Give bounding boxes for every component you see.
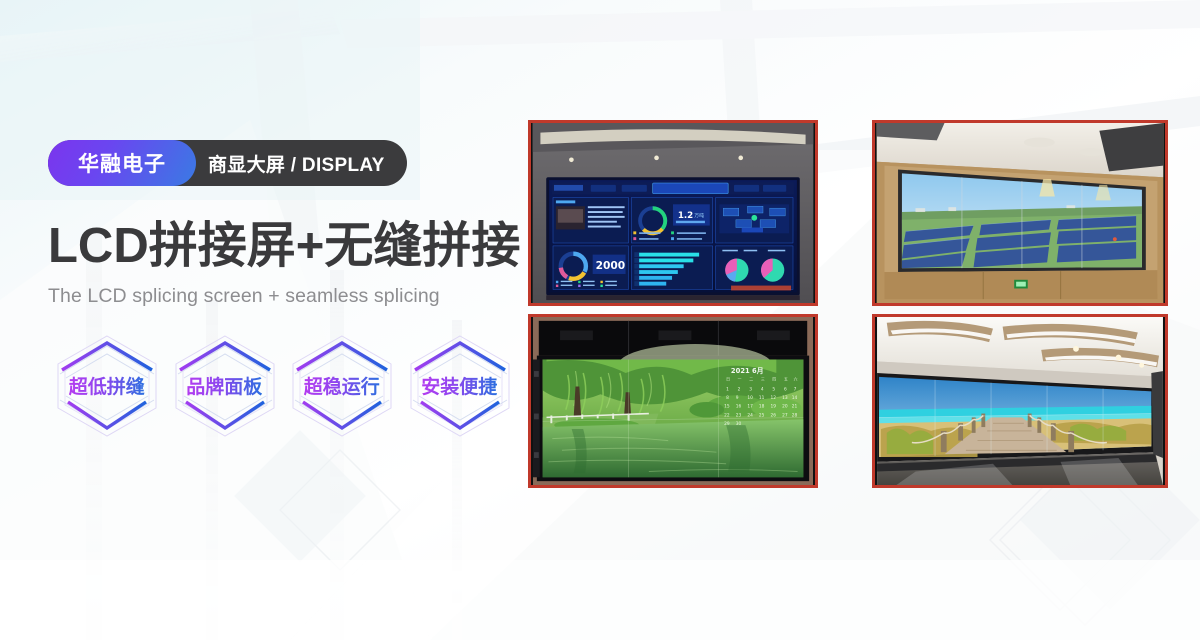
svg-text:17: 17 bbox=[747, 404, 753, 410]
svg-text:21: 21 bbox=[792, 404, 798, 410]
svg-text:3: 3 bbox=[749, 386, 752, 392]
feature-badge-2: 品牌面板 bbox=[166, 330, 284, 442]
svg-text:15: 15 bbox=[724, 404, 730, 410]
feature-badge-4: 安装便捷 bbox=[401, 330, 519, 442]
svg-text:1.2: 1.2 bbox=[678, 211, 693, 221]
feature-badge-1: 超低拼缝 bbox=[48, 330, 166, 442]
page-title: LCD拼接屏+无缝拼接 bbox=[48, 222, 518, 272]
svg-text:20: 20 bbox=[782, 404, 788, 410]
chevron-up-icon bbox=[180, 343, 270, 370]
svg-text:2021 6月: 2021 6月 bbox=[731, 367, 764, 375]
svg-text:7: 7 bbox=[794, 386, 797, 392]
brand-badge-label: 华融电子 bbox=[78, 148, 166, 178]
svg-text:五: 五 bbox=[784, 377, 788, 382]
svg-text:二: 二 bbox=[749, 377, 753, 382]
svg-text:四: 四 bbox=[772, 377, 776, 382]
svg-text:2: 2 bbox=[738, 386, 741, 392]
svg-text:10: 10 bbox=[747, 395, 753, 401]
svg-text:16: 16 bbox=[736, 404, 742, 410]
svg-text:12: 12 bbox=[771, 395, 777, 401]
svg-text:19: 19 bbox=[771, 404, 777, 410]
svg-text:9: 9 bbox=[736, 395, 739, 401]
svg-text:6: 6 bbox=[784, 386, 787, 392]
svg-text:23: 23 bbox=[736, 412, 742, 418]
promo-banner: 商显大屏 / DISPLAY 华融电子 LCD拼接屏+无缝拼接 The LCD … bbox=[0, 0, 1200, 640]
svg-text:一: 一 bbox=[738, 377, 742, 382]
svg-text:30: 30 bbox=[736, 421, 742, 427]
svg-text:24: 24 bbox=[747, 412, 753, 418]
svg-text:29: 29 bbox=[724, 421, 730, 427]
chevron-up-icon bbox=[62, 343, 152, 370]
badge-row: 商显大屏 / DISPLAY 华融电子 bbox=[48, 140, 518, 186]
svg-text:13: 13 bbox=[782, 395, 788, 401]
svg-text:2000: 2000 bbox=[596, 259, 626, 272]
svg-text:4: 4 bbox=[761, 386, 764, 392]
category-badge-label: 商显大屏 / DISPLAY bbox=[208, 150, 385, 177]
svg-text:14: 14 bbox=[792, 395, 798, 401]
feature-badge-label: 超低拼缝 bbox=[69, 372, 145, 399]
svg-text:25: 25 bbox=[759, 412, 765, 418]
page-subtitle: The LCD splicing screen + seamless splic… bbox=[48, 285, 518, 308]
feature-badge-row: 超低拼缝 bbox=[48, 330, 518, 442]
svg-text:11: 11 bbox=[759, 395, 765, 401]
photo-willow-lake-video-wall: 2021 6月 日一二 三四五六 123 4567 8910 11121314 … bbox=[528, 314, 818, 488]
svg-text:22: 22 bbox=[724, 412, 730, 418]
chevron-up-icon bbox=[415, 343, 505, 370]
copy-column: 商显大屏 / DISPLAY 华融电子 LCD拼接屏+无缝拼接 The LCD … bbox=[48, 140, 518, 442]
svg-text:日: 日 bbox=[726, 377, 730, 382]
photo-solar-farm-video-wall bbox=[872, 120, 1168, 306]
chevron-down-icon bbox=[303, 402, 381, 428]
feature-badge-3: 超稳运行 bbox=[283, 330, 401, 442]
photo-control-room-dashboard: 1.2 万吨 bbox=[528, 120, 818, 306]
feature-badge-label: 超稳运行 bbox=[304, 372, 380, 399]
svg-text:18: 18 bbox=[759, 404, 765, 410]
svg-text:三: 三 bbox=[761, 377, 765, 382]
photo-beach-boardwalk-video-wall bbox=[872, 314, 1168, 488]
svg-text:万吨: 万吨 bbox=[694, 212, 704, 219]
feature-badge-label: 品牌面板 bbox=[186, 372, 262, 399]
chevron-down-icon bbox=[186, 402, 264, 428]
feature-badge-label: 安装便捷 bbox=[421, 372, 497, 399]
svg-text:8: 8 bbox=[726, 395, 729, 401]
svg-text:5: 5 bbox=[772, 386, 775, 392]
svg-text:六: 六 bbox=[794, 377, 798, 382]
chevron-down-icon bbox=[421, 402, 499, 428]
svg-text:1: 1 bbox=[726, 386, 729, 392]
chevron-down-icon bbox=[68, 402, 146, 428]
brand-badge: 华融电子 bbox=[48, 140, 196, 186]
chevron-up-icon bbox=[297, 343, 387, 370]
